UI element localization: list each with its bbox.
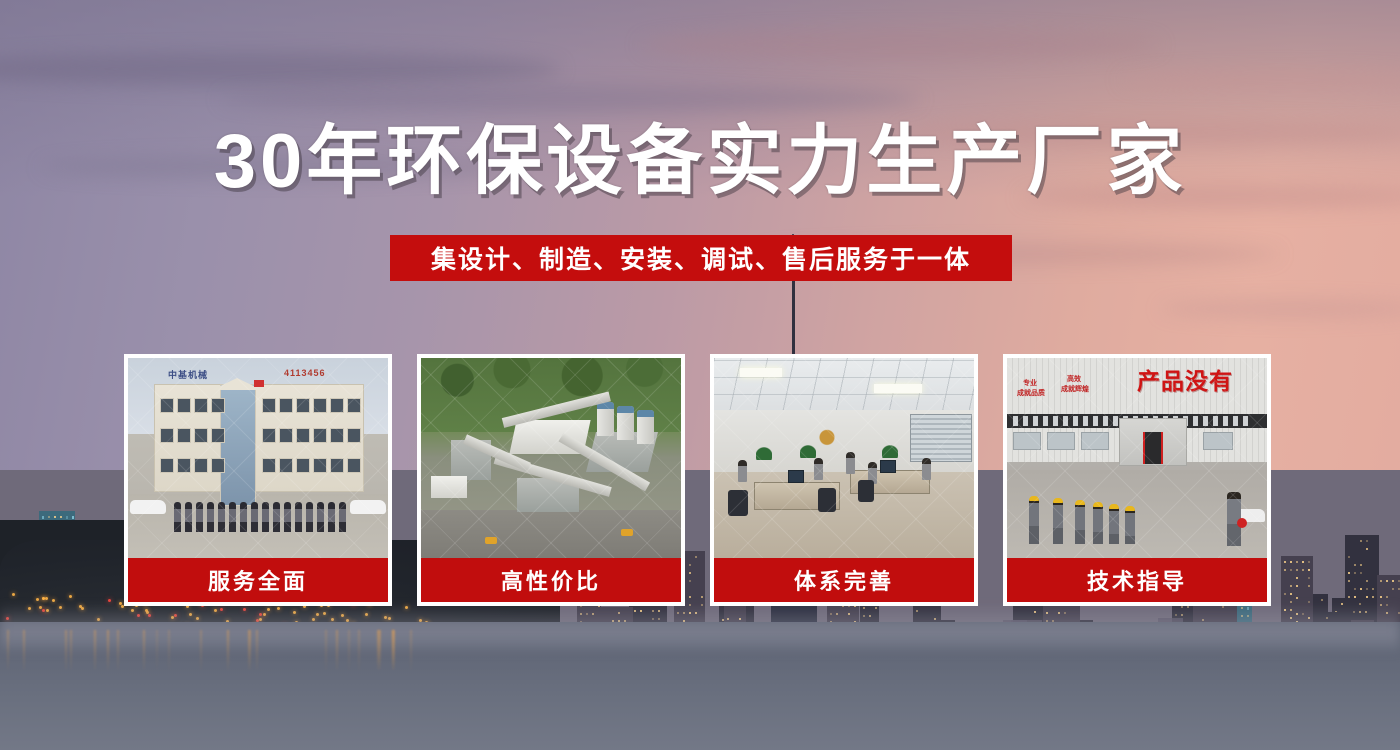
photo-hard-hat xyxy=(1125,506,1135,511)
photo-building-window xyxy=(347,458,361,473)
photo-building-window xyxy=(330,428,344,443)
photo-person xyxy=(846,452,855,474)
photo-person xyxy=(240,502,247,532)
water-haze xyxy=(0,604,1400,650)
photo-building-phone: 4113456 xyxy=(284,368,326,378)
photo-band-window xyxy=(1243,416,1248,426)
photo-monitor xyxy=(880,460,896,473)
building-window xyxy=(1354,588,1356,590)
photo-wall-slogan: 成就辉煌 xyxy=(1061,386,1089,395)
water-reflection xyxy=(392,630,394,672)
photo-building-window xyxy=(296,458,310,473)
building-window xyxy=(1308,585,1310,587)
photo-person xyxy=(328,502,335,532)
shore-light xyxy=(69,595,72,598)
photo-worker xyxy=(1109,506,1119,544)
building-window xyxy=(60,516,62,518)
photo-person xyxy=(814,458,823,480)
photo-person xyxy=(262,502,269,532)
photo-building-window xyxy=(347,428,361,443)
photo-building-window xyxy=(296,428,310,443)
photo-window xyxy=(1203,432,1233,450)
photo-car xyxy=(130,500,166,514)
feature-card[interactable]: 产品没有 专业 成就品质 高效 成就辉煌 技术指导 xyxy=(1003,354,1271,606)
photo-band-window xyxy=(1203,416,1208,426)
photo-worker xyxy=(1053,500,1063,544)
building-window xyxy=(1296,577,1298,579)
building-window xyxy=(1348,572,1350,574)
photo-building-window xyxy=(177,398,191,413)
photo-building-window xyxy=(330,458,344,473)
photo-person xyxy=(273,502,280,532)
photo-building-window xyxy=(177,428,191,443)
photo-band-window xyxy=(1033,416,1038,426)
photo-person xyxy=(339,502,346,532)
photo-hard-hat xyxy=(1053,498,1063,503)
photo-building-atrium xyxy=(220,384,256,506)
shore-light xyxy=(52,599,55,602)
feature-card[interactable]: 体系完善 xyxy=(710,354,978,606)
workshop-training-photo: 产品没有 专业 成就品质 高效 成就辉煌 xyxy=(1007,358,1267,558)
building-window xyxy=(42,516,44,519)
photo-person xyxy=(295,502,302,532)
water-reflection xyxy=(23,630,25,672)
photo-building-window xyxy=(347,398,361,413)
photo-ceiling-light xyxy=(874,384,922,393)
building-window xyxy=(1360,564,1362,566)
photo-floor xyxy=(714,466,974,558)
photo-person xyxy=(218,502,225,532)
building-window xyxy=(1360,588,1362,590)
feature-card-caption: 高性价比 xyxy=(421,558,681,602)
photo-building-sign: 中基机械 xyxy=(168,368,208,381)
building-window xyxy=(1354,564,1356,566)
photo-plant xyxy=(800,444,816,458)
photo-excavator xyxy=(621,529,633,536)
building-window xyxy=(1321,599,1323,601)
water-reflection xyxy=(7,630,9,672)
building-window xyxy=(1386,596,1388,598)
photo-band-window xyxy=(1223,416,1228,426)
water-reflection xyxy=(107,630,109,672)
office-interior-photo xyxy=(714,358,974,558)
photo-building-window xyxy=(211,458,225,473)
photo-person xyxy=(185,502,192,532)
feature-card[interactable]: 中基机械 4113456 服务全面 xyxy=(124,354,392,606)
shore-light xyxy=(36,598,39,601)
photo-worker xyxy=(1029,498,1039,544)
photo-building-window xyxy=(211,398,225,413)
building-window xyxy=(72,516,74,519)
photo-band-window xyxy=(1113,416,1118,426)
building-window xyxy=(1296,597,1298,599)
photo-ceiling-grid xyxy=(714,358,974,412)
photo-person xyxy=(196,502,203,532)
photo-plant-office xyxy=(431,476,467,498)
building-window xyxy=(1290,561,1292,563)
photo-building-window xyxy=(262,458,276,473)
building-window xyxy=(1308,569,1310,571)
photo-wall-slogan: 专业 xyxy=(1023,380,1037,389)
building-window xyxy=(1366,580,1368,582)
photo-person xyxy=(738,460,747,482)
photo-hard-hat xyxy=(1075,500,1085,505)
water-reflection xyxy=(336,630,338,672)
subtitle-banner: 集设计、制造、安装、调试、售后服务于一体 xyxy=(390,235,1012,281)
photo-ceiling-light xyxy=(740,368,782,377)
cloud-band xyxy=(1120,70,1400,90)
photo-band-window xyxy=(1193,416,1198,426)
water-reflection xyxy=(249,630,251,672)
building-window xyxy=(1366,540,1368,542)
photo-flag xyxy=(254,380,264,387)
photo-person xyxy=(229,502,236,532)
building-window xyxy=(1366,588,1368,590)
cloud-band xyxy=(640,30,1160,60)
water-reflection xyxy=(325,630,327,672)
feature-card-caption: 技术指导 xyxy=(1007,558,1267,602)
photo-plant xyxy=(756,446,772,460)
building-window xyxy=(1392,588,1394,590)
cloud-band xyxy=(1160,300,1400,318)
photo-band-window xyxy=(1233,416,1238,426)
building-window xyxy=(54,516,56,518)
building-window xyxy=(1386,580,1388,582)
water-reflection xyxy=(65,630,67,672)
photo-building-window xyxy=(194,398,208,413)
photo-band-window xyxy=(1213,416,1218,426)
water-reflection xyxy=(256,630,258,672)
photo-ground xyxy=(128,494,388,558)
building-window xyxy=(1392,580,1394,582)
subtitle-text: 集设计、制造、安装、调试、售后服务于一体 xyxy=(431,240,971,276)
photo-monitor xyxy=(788,470,804,483)
photo-hard-hat xyxy=(1029,496,1039,501)
photo-building-window xyxy=(262,398,276,413)
photo-building-window xyxy=(313,428,327,443)
building-window xyxy=(66,516,68,519)
shore-light xyxy=(12,593,15,596)
building-window xyxy=(1284,561,1286,563)
photo-plant xyxy=(882,444,898,458)
banner-stage: 30年环保设备实力生产厂家 集设计、制造、安装、调试、售后服务于一体 中基机械 … xyxy=(0,0,1400,750)
building-window xyxy=(1380,580,1382,582)
building-window xyxy=(1302,561,1304,563)
building-window xyxy=(48,516,50,518)
feature-card-caption: 服务全面 xyxy=(128,558,388,602)
building-window xyxy=(1284,593,1286,595)
page-title: 30年环保设备实力生产厂家 xyxy=(0,124,1400,200)
photo-band-window xyxy=(1043,416,1048,426)
water-reflection xyxy=(358,630,360,672)
photo-building-window xyxy=(313,398,327,413)
water-reflection xyxy=(94,630,96,672)
photo-building-window xyxy=(211,428,225,443)
building-window xyxy=(1360,540,1362,542)
photo-chair xyxy=(818,488,836,512)
photo-red-helmet xyxy=(1237,518,1247,528)
photo-factory-door-opening xyxy=(1143,432,1163,464)
photo-person xyxy=(317,502,324,532)
photo-building-window xyxy=(177,458,191,473)
photo-building-window xyxy=(160,428,174,443)
building-window xyxy=(1308,561,1310,563)
building-window xyxy=(1380,596,1382,598)
photo-window xyxy=(1013,432,1041,450)
building-window xyxy=(1348,580,1350,582)
cloud-band xyxy=(220,86,920,112)
water-reflection xyxy=(200,630,202,672)
photo-silo-cap xyxy=(637,410,654,417)
photo-window xyxy=(1047,432,1075,450)
photo-person xyxy=(284,502,291,532)
water-reflection xyxy=(70,630,72,672)
photo-building-window xyxy=(296,398,310,413)
photo-building-window xyxy=(279,398,293,413)
photo-band-window xyxy=(1063,416,1068,426)
photo-building-window xyxy=(160,398,174,413)
water-reflection xyxy=(168,630,170,672)
photo-person xyxy=(251,502,258,532)
photo-building-window xyxy=(194,428,208,443)
photo-wall-slogan: 高效 xyxy=(1067,376,1081,385)
building-window xyxy=(1296,569,1298,571)
feature-card-list: 中基机械 4113456 服务全面 xyxy=(124,354,1276,606)
photo-building-window xyxy=(330,398,344,413)
company-headquarters-building-photo: 中基机械 4113456 xyxy=(128,358,388,558)
building-window xyxy=(1296,561,1298,563)
water-reflection xyxy=(156,630,158,672)
photo-silo-cap xyxy=(617,406,634,413)
building-window xyxy=(1360,572,1362,574)
photo-window-blinds xyxy=(910,414,972,462)
photo-worker xyxy=(1125,508,1135,544)
shore-light xyxy=(45,597,48,600)
feature-card-caption: 体系完善 xyxy=(714,558,974,602)
feature-card[interactable]: 高性价比 xyxy=(417,354,685,606)
photo-band-window xyxy=(1083,416,1088,426)
water-reflection xyxy=(348,630,350,672)
photo-band-window xyxy=(1103,416,1108,426)
photo-band-window xyxy=(1053,416,1058,426)
photo-person xyxy=(174,502,181,532)
photo-wall-text-large: 产品没有 xyxy=(1137,362,1267,396)
photo-car xyxy=(350,500,386,514)
photo-building-window xyxy=(313,458,327,473)
photo-hard-hat xyxy=(1109,504,1119,509)
building-window xyxy=(1284,569,1286,571)
photo-chair xyxy=(728,490,748,516)
photo-person xyxy=(922,458,931,480)
photo-building-window xyxy=(262,428,276,443)
photo-building-window xyxy=(194,458,208,473)
water-reflection xyxy=(117,630,119,672)
building-window xyxy=(1372,596,1374,598)
building-window xyxy=(1290,569,1292,571)
photo-band-window xyxy=(1093,416,1098,426)
photo-chair xyxy=(858,480,874,502)
water-reflection xyxy=(377,630,379,672)
building-window xyxy=(1290,593,1292,595)
cloud-band xyxy=(0,52,560,86)
photo-person xyxy=(207,502,214,532)
photo-worker xyxy=(1075,502,1085,544)
building-window xyxy=(1302,569,1304,571)
photo-band-window xyxy=(1023,416,1028,426)
photo-window xyxy=(1081,432,1109,450)
photo-band-window xyxy=(1073,416,1078,426)
building-window xyxy=(1290,601,1292,603)
water-reflection xyxy=(410,630,412,672)
photo-wall-slogan: 成就品质 xyxy=(1017,390,1045,399)
photo-building-window xyxy=(279,428,293,443)
building-window xyxy=(1308,577,1310,579)
photo-person xyxy=(306,502,313,532)
aerial-industrial-plant-photo xyxy=(421,358,681,558)
building-window xyxy=(1372,588,1374,590)
water-reflection xyxy=(143,630,145,672)
water-reflection xyxy=(227,630,229,672)
photo-worker xyxy=(1093,504,1103,544)
photo-building-window xyxy=(160,458,174,473)
photo-hard-hat xyxy=(1093,502,1103,507)
building-window xyxy=(1296,585,1298,587)
building-window xyxy=(1290,585,1292,587)
photo-building-window xyxy=(279,458,293,473)
shore-light xyxy=(108,599,111,602)
building-window xyxy=(1348,556,1350,558)
photo-yard xyxy=(421,510,681,558)
photo-excavator xyxy=(485,537,497,544)
building-window xyxy=(1366,548,1368,550)
photo-band-window xyxy=(1013,416,1018,426)
building-window xyxy=(1354,572,1356,574)
